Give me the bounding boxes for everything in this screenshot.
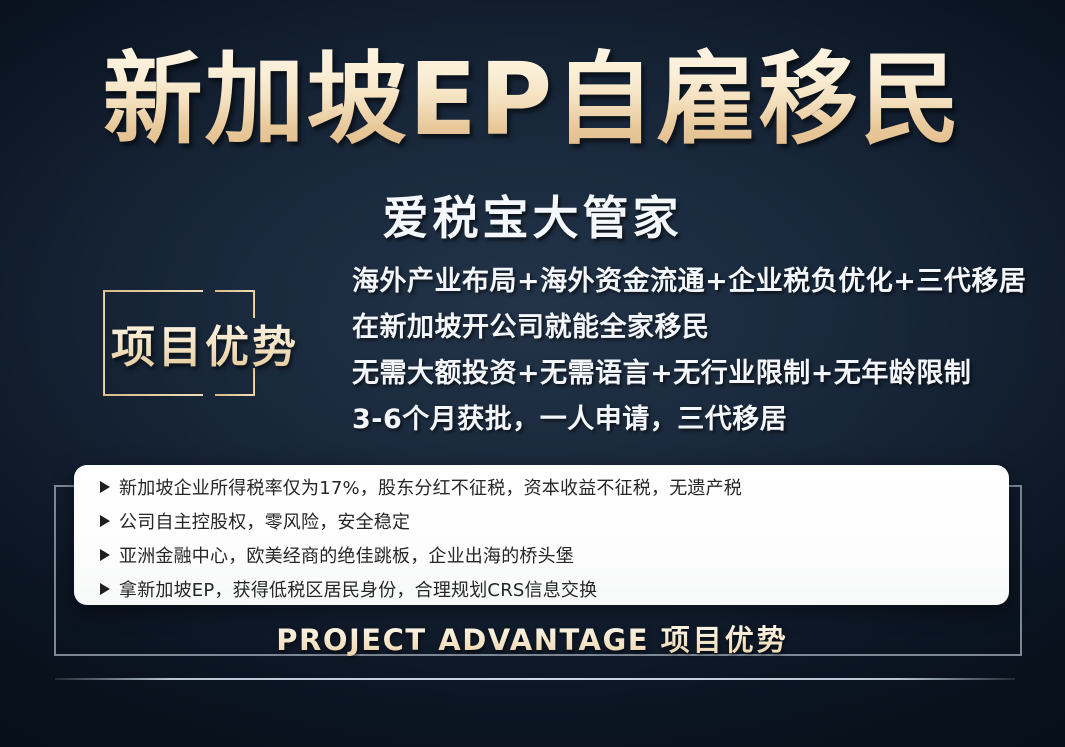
list-item: 公司自主控股权，零风险，安全稳定 (100, 514, 983, 532)
project-advantage-badge: 项目优势 (103, 290, 255, 396)
triangle-bullet-icon (100, 549, 110, 561)
triangle-bullet-icon (100, 583, 110, 595)
list-item: 新加坡企业所得税率仅为17%，股东分红不征税，资本收益不征税，无遗产税 (100, 480, 983, 498)
list-item: 亚洲金融中心，欧美经商的绝佳跳板，企业出海的桥头堡 (100, 548, 983, 566)
bottom-caption: PROJECT ADVANTAGE 项目优势 (0, 617, 1065, 659)
bracket-bottom-edge (103, 394, 203, 396)
advantage-line: 海外产业布局+海外资金流通+企业税负优化+三代移居 (352, 268, 1026, 295)
badge-label: 项目优势 (111, 311, 299, 375)
page-subtitle: 爱税宝大管家 (0, 182, 1065, 248)
advantage-line: 无需大额投资+无需语言+无行业限制+无年龄限制 (352, 360, 1026, 387)
list-item: 拿新加坡EP，获得低税区居民身份，合理规划CRS信息交换 (100, 582, 983, 600)
poster-canvas: 新加坡EP自雇移民 爱税宝大管家 项目优势 海外产业布局+海外资金流通+企业税负… (0, 0, 1065, 747)
bracket-bottom-right-corner-h (215, 394, 255, 396)
bracket-left-edge (103, 290, 105, 396)
bottom-divider (55, 678, 1015, 680)
bracket-top-edge (103, 290, 203, 292)
advantage-line: 3-6个月获批，一人申请，三代移居 (352, 406, 1026, 433)
list-item-label: 拿新加坡EP，获得低税区居民身份，合理规划CRS信息交换 (119, 582, 597, 600)
benefits-card: 新加坡企业所得税率仅为17%，股东分红不征税，资本收益不征税，无遗产税 公司自主… (74, 465, 1009, 605)
page-title: 新加坡EP自雇移民 (0, 44, 1065, 156)
triangle-bullet-icon (100, 515, 110, 527)
advantage-list: 海外产业布局+海外资金流通+企业税负优化+三代移居 在新加坡开公司就能全家移民 … (352, 268, 1026, 433)
bottom-caption-english: PROJECT ADVANTAGE (276, 623, 649, 657)
list-item-label: 公司自主控股权，零风险，安全稳定 (119, 514, 410, 532)
bottom-caption-chinese: 项目优势 (661, 623, 789, 657)
list-item-label: 亚洲金融中心，欧美经商的绝佳跳板，企业出海的桥头堡 (119, 548, 574, 566)
triangle-bullet-icon (100, 481, 110, 493)
advantage-line: 在新加坡开公司就能全家移民 (352, 314, 1026, 341)
bracket-top-right-corner-h (215, 290, 255, 292)
list-item-label: 新加坡企业所得税率仅为17%，股东分红不征税，资本收益不征税，无遗产税 (119, 480, 742, 498)
